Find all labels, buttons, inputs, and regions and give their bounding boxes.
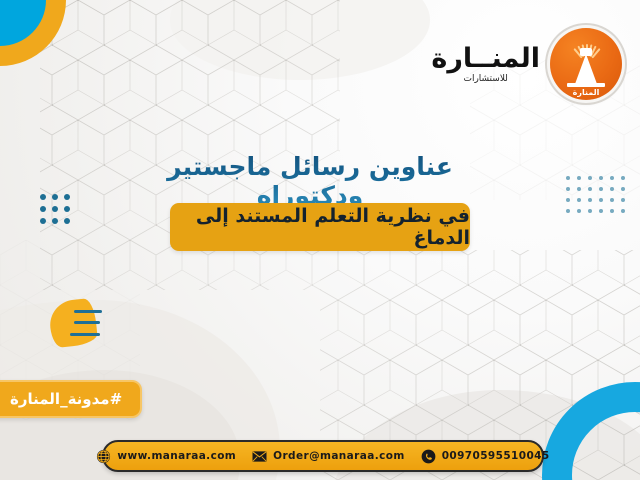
- footer-email[interactable]: Order@manaraa.com: [252, 449, 405, 464]
- subheadline-box: في نظرية التعلم المستند إلى الدماغ: [170, 203, 470, 251]
- badge-word: المنارة: [573, 88, 600, 97]
- envelope-icon: [252, 449, 267, 464]
- email-text: Order@manaraa.com: [273, 450, 405, 462]
- footer-phone[interactable]: 00970595510045: [421, 449, 550, 464]
- brand-logo[interactable]: المنارة المنــارة للاستشارات: [431, 28, 622, 100]
- lighthouse-badge-icon: المنارة: [550, 28, 622, 100]
- contact-footer-bar: www.manaraa.com Order@manaraa.com 009705…: [102, 440, 544, 472]
- blue-dash-2: [74, 321, 100, 324]
- background-swoosh-top: [170, 0, 430, 80]
- hashtag-badge[interactable]: #مدونة_المنارة: [0, 380, 142, 418]
- footer-website[interactable]: www.manaraa.com: [96, 449, 236, 464]
- hashtag-label: #مدونة_المنارة: [10, 390, 122, 408]
- blue-dash-1: [74, 310, 102, 313]
- brand-logo-text: المنــارة للاستشارات: [431, 45, 540, 84]
- subheadline-text: في نظرية التعلم المستند إلى الدماغ: [170, 205, 470, 249]
- globe-icon: [96, 449, 111, 464]
- poster-canvas: المنارة المنــارة للاستشارات عناوين رسائ…: [0, 0, 640, 480]
- lighthouse-base: [567, 83, 605, 87]
- phone-text: 00970595510045: [442, 450, 550, 462]
- lighthouse-tower: [575, 54, 597, 84]
- dot-grid-right: [566, 176, 632, 220]
- blue-dash-3: [70, 333, 100, 336]
- headline: عناوين رسائل ماجستير ودكتوراه: [130, 152, 490, 210]
- dot-grid-left: [40, 194, 76, 230]
- brand-tagline: للاستشارات: [463, 75, 507, 84]
- whatsapp-phone-icon: [421, 449, 436, 464]
- brand-name: المنــارة: [431, 45, 540, 72]
- website-text: www.manaraa.com: [117, 450, 236, 462]
